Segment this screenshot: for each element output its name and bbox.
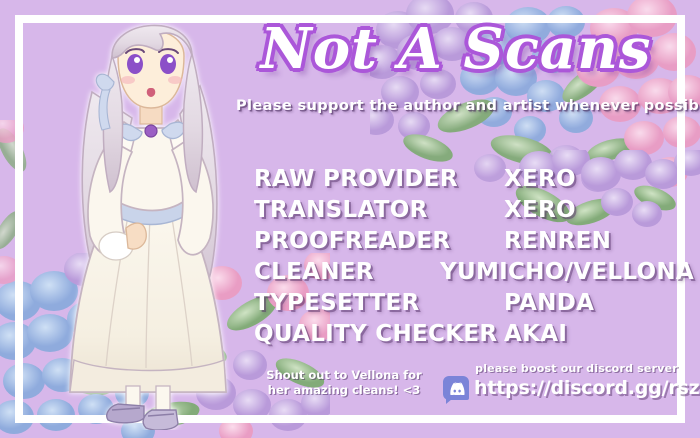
page-title: Not A Scans: [236, 8, 676, 90]
discord-block: please boost our discord server https://…: [443, 362, 688, 400]
credit-role: QUALITY CHECKER: [254, 321, 504, 347]
title-text: Not A Scans: [261, 16, 652, 82]
credit-name: PANDA: [504, 290, 694, 316]
discord-caption: please boost our discord server: [443, 362, 688, 375]
credit-row: TYPESETTER PANDA: [254, 290, 694, 321]
shoutout-note: Shout out to Vellona for her amazing cle…: [258, 368, 430, 398]
credit-row: PROOFREADER RENREN: [254, 228, 694, 259]
credit-name: YUMICHO/VELLONA: [440, 259, 694, 285]
discord-url[interactable]: https://discord.gg/rszeywm: [474, 377, 700, 399]
credit-row: QUALITY CHECKER AKAI: [254, 321, 694, 352]
credit-role: CLEANER: [254, 259, 440, 285]
credit-name: XERO: [504, 197, 694, 223]
character-illustration: [40, 0, 260, 430]
credits-list: RAW PROVIDER XERO TRANSLATOR XERO PROOFR…: [254, 166, 694, 352]
subtitle-text: Please support the author and artist whe…: [236, 98, 676, 114]
credit-row: TRANSLATOR XERO: [254, 197, 694, 228]
credit-name: XERO: [504, 166, 694, 192]
credits-page: Not A Scans Please support the author an…: [0, 0, 700, 438]
shoutout-line-2: her amazing cleans! <3: [258, 383, 430, 398]
discord-link-row[interactable]: https://discord.gg/rszeywm: [443, 376, 688, 400]
credit-row: RAW PROVIDER XERO: [254, 166, 694, 197]
discord-icon: [443, 376, 469, 400]
credit-row: CLEANER YUMICHO/VELLONA: [254, 259, 694, 290]
shoutout-line-1: Shout out to Vellona for: [258, 368, 430, 383]
credit-name: RENREN: [504, 228, 694, 254]
credit-role: RAW PROVIDER: [254, 166, 504, 192]
credit-role: PROOFREADER: [254, 228, 504, 254]
credit-name: AKAI: [504, 321, 694, 347]
credit-role: TYPESETTER: [254, 290, 504, 316]
credit-role: TRANSLATOR: [254, 197, 504, 223]
